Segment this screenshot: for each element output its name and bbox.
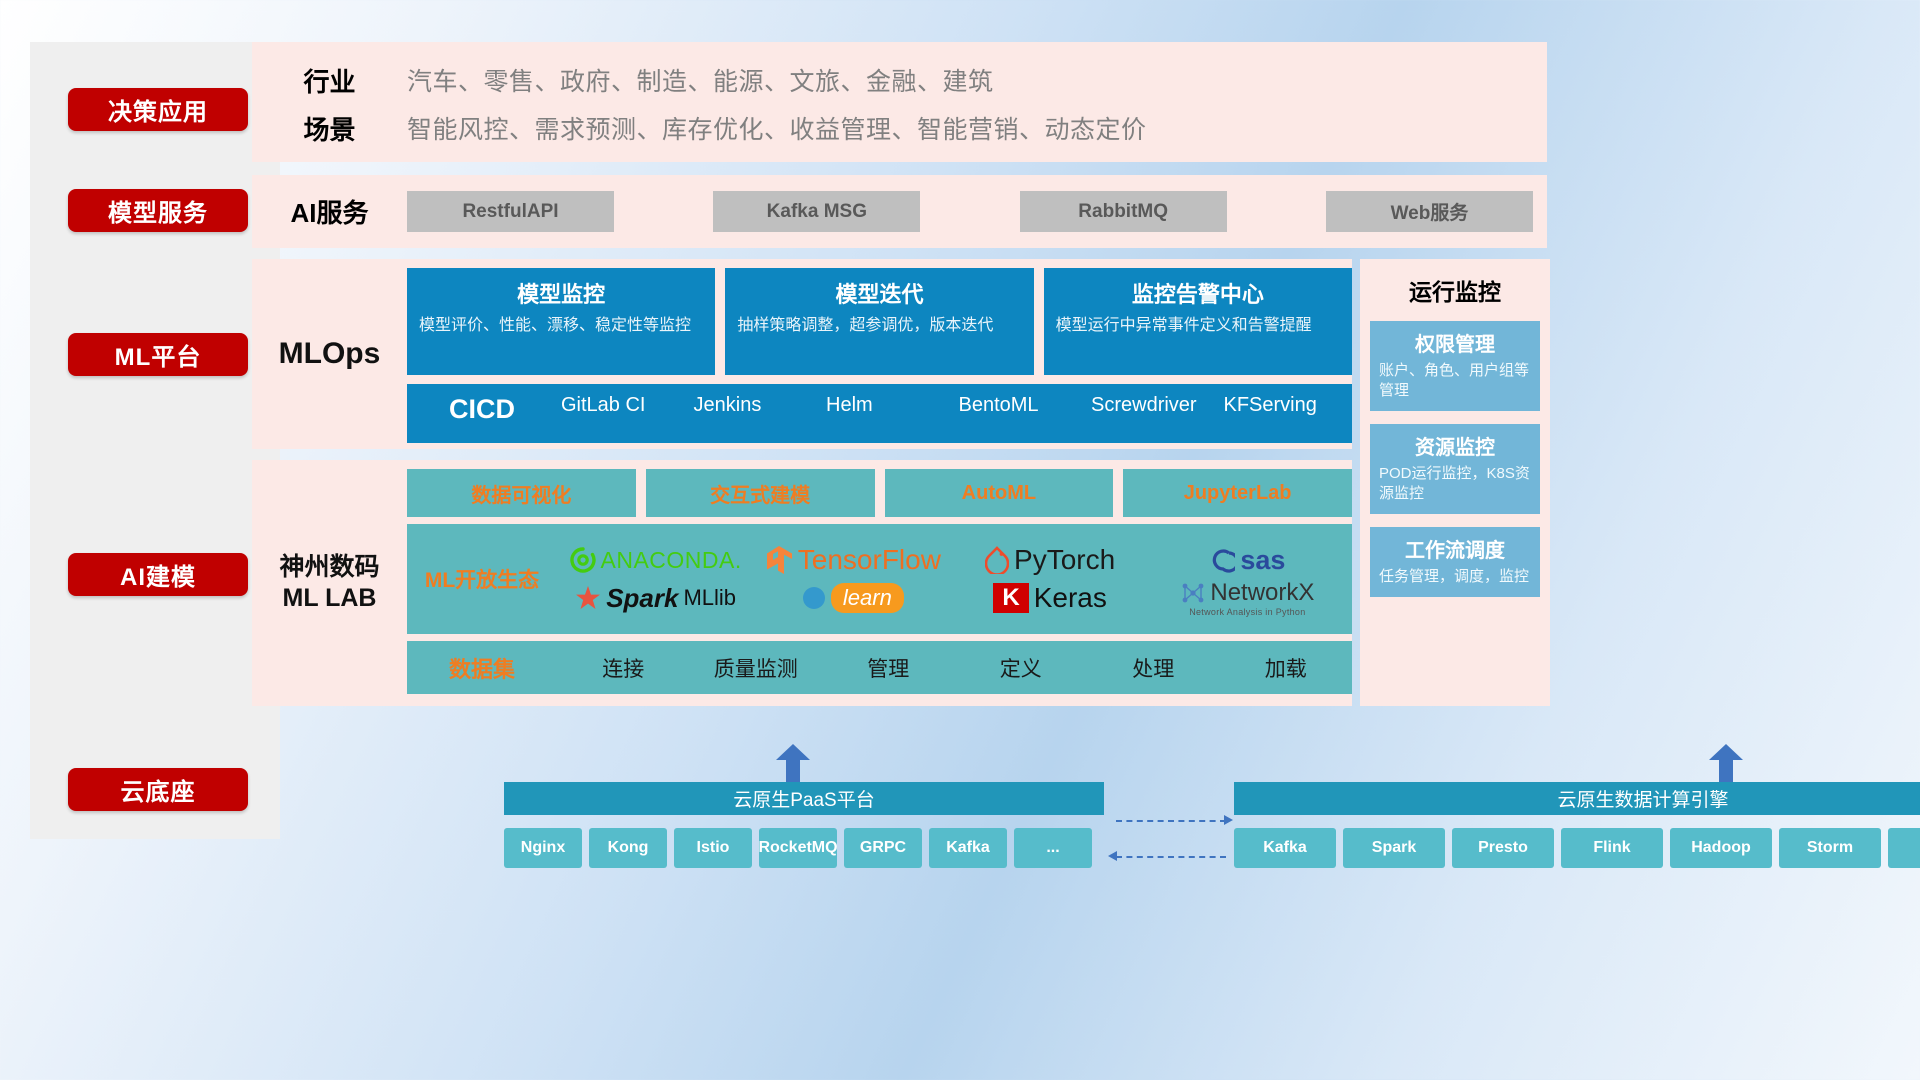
paas-chip-kong[interactable]: Kong [589, 828, 667, 868]
monitor-card-resource[interactable]: 资源监控 POD运行监控，K8S资源监控 [1370, 424, 1540, 514]
dashed-arrow-right [1116, 820, 1226, 822]
dataset-item-process[interactable]: 处理 [1087, 653, 1220, 683]
stage-pill-ml-platform[interactable]: ML平台 [68, 333, 248, 376]
cloud-header-paas: 云原生PaaS平台 [504, 782, 1104, 815]
cloud-group-data-engine: 云原生数据计算引擎 Kafka Spark Presto Flink Hadoo… [1234, 782, 1920, 868]
cicd-item-kfserving[interactable]: KFServing [1220, 394, 1353, 417]
service-chip-restfulapi[interactable]: RestfulAPI [407, 191, 614, 232]
left-stage-rail: 决策应用 模型服务 ML平台 AI建模 云底座 [30, 42, 280, 839]
dashed-arrow-right-tip [1224, 815, 1233, 825]
mllib-label: MLlib [683, 585, 736, 611]
stage-pill-model-service[interactable]: 模型服务 [68, 189, 248, 232]
lab-tab-data-visualization[interactable]: 数据可视化 [407, 469, 636, 517]
paas-chip-grpc[interactable]: GRPC [844, 828, 922, 868]
networkx-graph-icon [1180, 581, 1206, 605]
tensorflow-icon [765, 545, 793, 575]
dataset-bar: 数据集 连接 质量监测 管理 定义 处理 加载 [407, 641, 1352, 694]
ml-lab-tab-list: 数据可视化 交互式建模 AutoML JupyterLab [407, 469, 1352, 517]
keras-label: Keras [1034, 582, 1107, 614]
ml-lab-label: 神州数码 ML LAB [279, 552, 379, 615]
cicd-title: CICD [407, 394, 557, 425]
ml-lab-label-line2: ML LAB [283, 584, 377, 612]
dataset-item-connect[interactable]: 连接 [557, 653, 690, 683]
networkx-logo: NetworkX Network Analysis in Python [1180, 579, 1314, 617]
ai-service-label: AI服务 [252, 193, 407, 230]
ecosystem-logo-grid: ANACONDA. TensorFlow PyTorch [557, 541, 1352, 617]
arrow-up-paas [776, 744, 810, 784]
dataset-item-quality-monitor[interactable]: 质量监测 [690, 653, 823, 683]
ml-open-ecosystem-label: ML开放生态 [407, 564, 557, 594]
card-title: 模型迭代 [737, 277, 1021, 309]
scenario-value: 智能风控、需求预测、库存优化、收益管理、智能营销、动态定价 [407, 110, 1147, 146]
networkx-sublabel: Network Analysis in Python [1189, 607, 1305, 617]
monitor-card-permission[interactable]: 权限管理 账户、角色、用户组等管理 [1370, 321, 1540, 411]
paas-chip-istio[interactable]: Istio [674, 828, 752, 868]
engine-chip-hadoop[interactable]: Hadoop [1670, 828, 1772, 868]
sas-label: sas [1240, 545, 1285, 576]
cicd-item-gitlab-ci[interactable]: GitLab CI [557, 394, 690, 417]
cicd-item-list: GitLab CI Jenkins Helm BentoML Screwdriv… [557, 394, 1352, 417]
spark-star-icon [575, 585, 601, 611]
paas-chip-rocketmq[interactable]: RocketMQ [759, 828, 837, 868]
dataset-item-list: 连接 质量监测 管理 定义 处理 加载 [557, 653, 1352, 683]
dataset-item-define[interactable]: 定义 [955, 653, 1088, 683]
architecture-main: 行业 汽车、零售、政府、制造、能源、文旅、金融、建筑 场景 智能风控、需求预测、… [252, 42, 1800, 839]
card-desc: 任务管理，调度，监控 [1379, 567, 1531, 587]
card-desc: 模型运行中异常事件定义和告警提醒 [1056, 315, 1340, 336]
industry-label: 行业 [252, 62, 407, 99]
ai-modeling-band: 神州数码 ML LAB 数据可视化 交互式建模 AutoML JupyterLa… [252, 460, 1352, 706]
card-desc: 模型评价、性能、漂移、稳定性等监控 [419, 315, 703, 336]
industry-row: 行业 汽车、零售、政府、制造、能源、文旅、金融、建筑 [252, 56, 1547, 104]
service-chip-web[interactable]: Web服务 [1326, 191, 1533, 232]
scenario-row: 场景 智能风控、需求预测、库存优化、收益管理、智能营销、动态定价 [252, 104, 1547, 152]
cicd-bar: CICD GitLab CI Jenkins Helm BentoML Scre… [407, 384, 1352, 443]
engine-chip-flink[interactable]: Flink [1561, 828, 1663, 868]
dataset-item-manage[interactable]: 管理 [822, 653, 955, 683]
tensorflow-logo: TensorFlow [765, 544, 941, 576]
service-chip-rabbitmq[interactable]: RabbitMQ [1020, 191, 1227, 232]
cloud-base-section: 云原生PaaS平台 Nginx Kong Istio RocketMQ GRPC… [504, 768, 1920, 881]
scikit-learn-logo: learn [802, 583, 904, 613]
mlops-label: MLOps [279, 337, 381, 371]
card-title: 资源监控 [1379, 431, 1531, 460]
runtime-monitor-rail: 运行监控 权限管理 账户、角色、用户组等管理 资源监控 POD运行监控，K8S资… [1360, 259, 1550, 706]
engine-chip-presto[interactable]: Presto [1452, 828, 1554, 868]
card-title: 监控告警中心 [1056, 277, 1340, 309]
dataset-item-load[interactable]: 加载 [1220, 653, 1353, 683]
sas-logo: sas [1209, 545, 1285, 576]
stage-pill-cloud-base[interactable]: 云底座 [68, 768, 248, 811]
engine-chip-kafka[interactable]: Kafka [1234, 828, 1336, 868]
ai-service-band: AI服务 RestfulAPI Kafka MSG RabbitMQ Web服务 [252, 175, 1547, 248]
scenario-label: 场景 [252, 110, 407, 147]
card-title: 权限管理 [1379, 328, 1531, 357]
keras-mark-icon: K [993, 583, 1028, 613]
lab-tab-jupyterlab[interactable]: JupyterLab [1123, 469, 1352, 517]
mlops-content: 模型监控 模型评价、性能、漂移、稳定性等监控 模型迭代 抽样策略调整，超参调优，… [407, 259, 1352, 449]
cicd-item-screwdriver[interactable]: Screwdriver [1087, 394, 1220, 417]
cloud-group-paas: 云原生PaaS平台 Nginx Kong Istio RocketMQ GRPC… [504, 782, 1104, 868]
engine-chip-spark[interactable]: Spark [1343, 828, 1445, 868]
pytorch-label: PyTorch [1014, 544, 1115, 576]
data-engine-chip-row: Kafka Spark Presto Flink Hadoop Storm ..… [1234, 828, 1920, 868]
service-chip-kafka-msg[interactable]: Kafka MSG [713, 191, 920, 232]
paas-chip-kafka[interactable]: Kafka [929, 828, 1007, 868]
anaconda-label: ANACONDA. [601, 547, 742, 574]
anaconda-icon [570, 547, 596, 573]
keras-logo: K Keras [993, 582, 1107, 614]
networkx-label: NetworkX [1210, 579, 1314, 607]
stage-pill-ai-modeling[interactable]: AI建模 [68, 553, 248, 596]
pytorch-icon [985, 546, 1009, 574]
ml-lab-content: 数据可视化 交互式建模 AutoML JupyterLab ML开放生态 ANA… [407, 460, 1352, 706]
scikit-learn-label: learn [831, 583, 904, 613]
card-title: 模型监控 [419, 277, 703, 309]
dashed-arrow-left-tip [1108, 851, 1117, 861]
mlops-card-model-monitoring[interactable]: 模型监控 模型评价、性能、漂移、稳定性等监控 [407, 268, 715, 375]
mlops-band: MLOps 模型监控 模型评价、性能、漂移、稳定性等监控 模型迭代 抽样策略调整… [252, 259, 1352, 449]
spark-label: Spark [606, 583, 678, 614]
decision-application-band: 行业 汽车、零售、政府、制造、能源、文旅、金融、建筑 场景 智能风控、需求预测、… [252, 42, 1547, 162]
dashed-arrow-left [1116, 856, 1226, 858]
card-title: 工作流调度 [1379, 534, 1531, 563]
lab-tab-interactive-modeling[interactable]: 交互式建模 [646, 469, 875, 517]
runtime-monitor-header: 运行监控 [1370, 273, 1540, 307]
mlops-label-cell: MLOps [252, 259, 407, 449]
engine-chip-storm[interactable]: Storm [1779, 828, 1881, 868]
tensorflow-label: TensorFlow [798, 544, 941, 576]
cloud-header-data-engine: 云原生数据计算引擎 [1234, 782, 1920, 815]
ai-service-chip-list: RestfulAPI Kafka MSG RabbitMQ Web服务 [407, 191, 1547, 232]
sas-icon [1209, 547, 1235, 573]
scikit-blue-circle-icon [802, 586, 826, 610]
paas-chip-row: Nginx Kong Istio RocketMQ GRPC Kafka ... [504, 828, 1104, 868]
pytorch-logo: PyTorch [985, 544, 1115, 576]
card-desc: POD运行监控，K8S资源监控 [1379, 464, 1531, 504]
mlops-card-alert-center[interactable]: 监控告警中心 模型运行中异常事件定义和告警提醒 [1044, 268, 1352, 375]
ml-open-ecosystem: ML开放生态 ANACONDA. TensorFlow [407, 524, 1352, 634]
card-desc: 抽样策略调整，超参调优，版本迭代 [737, 315, 1021, 336]
mlops-card-model-iteration[interactable]: 模型迭代 抽样策略调整，超参调优，版本迭代 [725, 268, 1033, 375]
arrow-up-data-engine [1709, 744, 1743, 784]
stage-pill-decision-app[interactable]: 决策应用 [68, 88, 248, 131]
cicd-item-jenkins[interactable]: Jenkins [690, 394, 823, 417]
spark-mllib-logo: Spark MLlib [575, 583, 736, 614]
monitor-card-workflow[interactable]: 工作流调度 任务管理，调度，监控 [1370, 527, 1540, 597]
engine-chip-more[interactable]: ... [1888, 828, 1920, 868]
paas-chip-more[interactable]: ... [1014, 828, 1092, 868]
cicd-item-helm[interactable]: Helm [822, 394, 955, 417]
ml-lab-label-cell: 神州数码 ML LAB [252, 460, 407, 706]
cicd-item-bentoml[interactable]: BentoML [955, 394, 1088, 417]
dataset-title: 数据集 [407, 652, 557, 684]
lab-tab-automl[interactable]: AutoML [885, 469, 1114, 517]
card-desc: 账户、角色、用户组等管理 [1379, 361, 1531, 401]
anaconda-logo: ANACONDA. [570, 547, 742, 574]
mlops-card-list: 模型监控 模型评价、性能、漂移、稳定性等监控 模型迭代 抽样策略调整，超参调优，… [407, 268, 1352, 375]
paas-chip-nginx[interactable]: Nginx [504, 828, 582, 868]
ml-lab-label-line1: 神州数码 [279, 553, 379, 581]
industry-value: 汽车、零售、政府、制造、能源、文旅、金融、建筑 [407, 62, 994, 98]
